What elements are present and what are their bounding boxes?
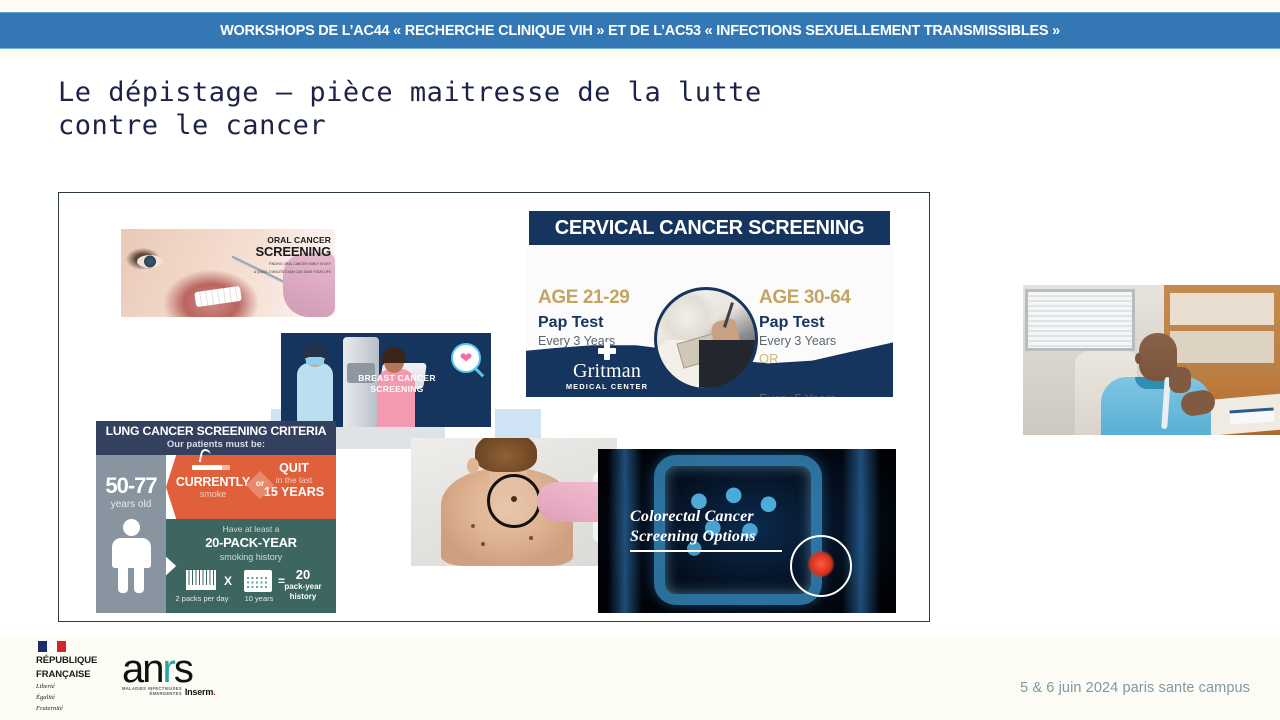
oral-patient-eye: [137, 255, 163, 268]
flag-blue-band: [38, 641, 47, 652]
mole-primary: [511, 496, 517, 502]
lung-cancer-screening-criteria-image: LUNG CANCER SCREENING CRITERIA Our patie…: [96, 421, 336, 613]
speaker-webcam-feed[interactable]: [1023, 285, 1280, 435]
inserm-dot: .: [213, 687, 215, 697]
cervical-right-frequency-2: Every 5 Years: [759, 391, 885, 397]
oral-cancer-caption: ORAL CANCER SCREENING FINDING ORAL CANCE…: [227, 235, 331, 274]
technician-body: [297, 363, 333, 427]
breast-title-line-1: BREAST CANCER: [349, 373, 445, 384]
lung-packyear-line-2: 20-PACK-YEAR: [166, 535, 336, 551]
face-mask-icon: [306, 357, 324, 365]
breast-cancer-caption: BREAST CANCER SCREENING: [349, 373, 445, 395]
cervical-right-test-2: Pap/HPV Test: [759, 371, 885, 391]
lung-header-subtitle: Our patients must be:: [96, 439, 336, 451]
skin-cancer-mole-check-image: [411, 438, 617, 566]
medical-cross-icon: [598, 342, 616, 360]
colorectal-cancer-screening-image: Colorectal Cancer Screening Options: [598, 449, 896, 613]
gritman-logo-subtitle: MEDICAL CENTER: [552, 382, 662, 391]
cervical-right-test-1: Pap Test: [759, 313, 885, 333]
equation-result: 20 pack-year history: [276, 568, 330, 601]
oral-subtext-line-2: A QUICK 2 MINUTE EXAM CAN SAVE YOUR LIFE: [227, 270, 331, 275]
colorectal-title-underline: [630, 550, 782, 552]
equation-result-line-2: history: [276, 592, 330, 602]
cigarette-pack-icon: [186, 570, 216, 590]
lung-currently-light: smoke: [174, 489, 252, 500]
motto-fraternite: Fraternité: [36, 705, 106, 713]
person-head-icon: [123, 519, 140, 536]
republique-line-2: FRANÇAISE: [36, 669, 106, 680]
person-body-icon: [112, 538, 151, 568]
cervical-left-test: Pap Test: [538, 313, 668, 333]
gritman-logo: Gritman MEDICAL CENTER: [552, 342, 662, 391]
cervical-right-frequency-1: Every 3 Years: [759, 333, 885, 349]
page-title: Le dépistage – pièce maitresse de la lut…: [58, 76, 918, 142]
lung-currently-smokes: CURRENTLY smoke: [174, 475, 252, 500]
motto-egalite: Égalité: [36, 694, 106, 702]
lung-age-panel: 50-77 years old: [96, 455, 166, 613]
patient-hair: [382, 347, 406, 363]
anrs-letter-n: n: [142, 647, 162, 691]
flag-red-band: [57, 641, 66, 652]
mole-secondary-1: [471, 524, 475, 528]
lung-packyear-panel: Have at least a 20-PACK-YEAR smoking his…: [166, 519, 336, 613]
anrs-logo: anrs MALADIES INFECTIEUSES ÉMERGENTES In…: [122, 650, 232, 697]
body-outline-right: [842, 449, 880, 613]
anrs-letter-r: r: [163, 647, 174, 691]
cervical-right-age: AGE 30-64: [759, 287, 885, 309]
gritman-logo-name: Gritman: [552, 361, 662, 382]
magnifier-handle-icon: [475, 367, 485, 377]
page-title-line-2: contre le cancer: [58, 109, 918, 142]
inserm-text: Inserm: [185, 687, 213, 697]
person-icon: [109, 519, 153, 593]
oral-subtext-line-1: FINDING ORAL CANCER EARLY IS KEY: [227, 262, 331, 267]
oral-title-line-2: SCREENING: [227, 245, 331, 259]
event-banner: WORKSHOPS DE L’AC44 « RECHERCHE CLINIQUE…: [0, 12, 1280, 49]
presentation-slide: WORKSHOPS DE L’AC44 « RECHERCHE CLINIQUE…: [0, 0, 1280, 720]
technician-hair: [303, 344, 327, 358]
consult-doctor-leg: [699, 340, 755, 388]
cervical-left-column: AGE 21-29 Pap Test Every 3 Years: [538, 287, 668, 349]
colorectal-caption: Colorectal Cancer Screening Options: [630, 507, 800, 552]
republique-francaise-logo: RÉPUBLIQUE FRANÇAISE Liberté Égalité Fra…: [36, 641, 106, 713]
banner-top-strip: [0, 0, 1280, 12]
webcam-window-blinds: [1025, 289, 1135, 351]
lung-quit-line-3: 15 YEARS: [258, 485, 330, 499]
cervical-header-text: CERVICAL CANCER SCREENING: [555, 217, 865, 240]
anrs-letter-s: s: [174, 647, 192, 691]
french-flag-icon: [38, 641, 66, 652]
cervical-header-bar: CERVICAL CANCER SCREENING: [529, 211, 890, 245]
motto-liberte: Liberté: [36, 683, 106, 691]
cervical-cancer-screening-image: CERVICAL CANCER SCREENING AGE 21-29 Pap …: [526, 211, 893, 397]
cervical-right-or: OR: [759, 350, 885, 367]
oral-cancer-screening-image: ORAL CANCER SCREENING FINDING ORAL CANCE…: [121, 229, 335, 317]
equation-label-packs: 2 packs per day: [172, 594, 232, 603]
lung-packyear-line-1: Have at least a: [166, 519, 336, 535]
mole-secondary-3: [529, 536, 533, 540]
anrs-subtitle: MALADIES INFECTIEUSES ÉMERGENTES: [122, 686, 182, 697]
slide-content-box: ORAL CANCER SCREENING FINDING ORAL CANCE…: [58, 192, 930, 622]
lung-header-bar: LUNG CANCER SCREENING CRITERIA Our patie…: [96, 421, 336, 455]
lung-quit-line-2: in the last: [258, 475, 330, 485]
person-leg-left-icon: [118, 566, 128, 593]
anrs-subtitle-row: MALADIES INFECTIEUSES ÉMERGENTES Inserm.: [122, 686, 232, 697]
person-leg-right-icon: [134, 566, 144, 593]
lung-age-unit: years old: [96, 499, 166, 511]
banner-bottom-strip: [0, 49, 1280, 59]
page-title-line-1: Le dépistage – pièce maitresse de la lut…: [58, 76, 918, 109]
republique-line-1: RÉPUBLIQUE: [36, 655, 106, 666]
anrs-wordmark: anrs: [122, 650, 232, 688]
event-banner-text: WORKSHOPS DE L’AC44 « RECHERCHE CLINIQUE…: [220, 23, 1060, 39]
colorectal-title-line-2: Screening Options: [630, 527, 800, 547]
breast-cancer-screening-image: ❤ BREAST CANCER SCREENING: [281, 333, 491, 427]
lung-currently-bold: CURRENTLY: [174, 475, 252, 489]
speaker-ear: [1135, 353, 1142, 364]
cervical-right-column: AGE 30-64 Pap Test Every 3 Years OR Pap/…: [759, 287, 885, 397]
equation-result-number: 20: [276, 568, 330, 582]
lung-quit-block: QUIT in the last 15 YEARS: [258, 461, 330, 499]
cervical-left-age: AGE 21-29: [538, 287, 668, 309]
patient-hair-bun: [475, 438, 537, 472]
lung-packyear-equation: X = 20 pack-year history 2 packs per day…: [166, 568, 336, 613]
heart-icon: ❤: [460, 351, 473, 366]
mole-secondary-2: [481, 542, 485, 546]
lung-packyear-line-3: smoking history: [166, 551, 336, 563]
equation-label-years: 10 years: [236, 594, 282, 603]
cervical-consult-photo: [654, 287, 758, 391]
breast-title-line-2: SCREENING: [349, 384, 445, 395]
lung-quit-line-1: QUIT: [258, 461, 330, 475]
lung-header-title: LUNG CANCER SCREENING CRITERIA: [96, 424, 336, 439]
calendar-icon: [244, 570, 272, 592]
colorectal-title-line-1: Colorectal Cancer: [630, 507, 800, 527]
event-date-location: 5 & 6 juin 2024 paris sante campus: [1020, 680, 1250, 696]
flag-white-band: [47, 641, 56, 652]
lung-age-range: 50-77: [96, 473, 166, 499]
webcam-bookshelf: [1164, 285, 1280, 377]
cigarette-tip-icon: [222, 465, 230, 470]
inserm-wordmark: Inserm.: [185, 687, 216, 697]
equation-result-line-1: pack-year: [276, 582, 330, 592]
anrs-subtitle-line-2: ÉMERGENTES: [122, 691, 182, 696]
cervical-body: AGE 21-29 Pap Test Every 3 Years AGE 30-…: [526, 245, 893, 397]
speaker-hand: [1169, 367, 1191, 393]
equation-multiply: X: [224, 574, 232, 588]
anrs-letter-a: a: [122, 647, 142, 691]
patient-ear: [467, 458, 479, 474]
